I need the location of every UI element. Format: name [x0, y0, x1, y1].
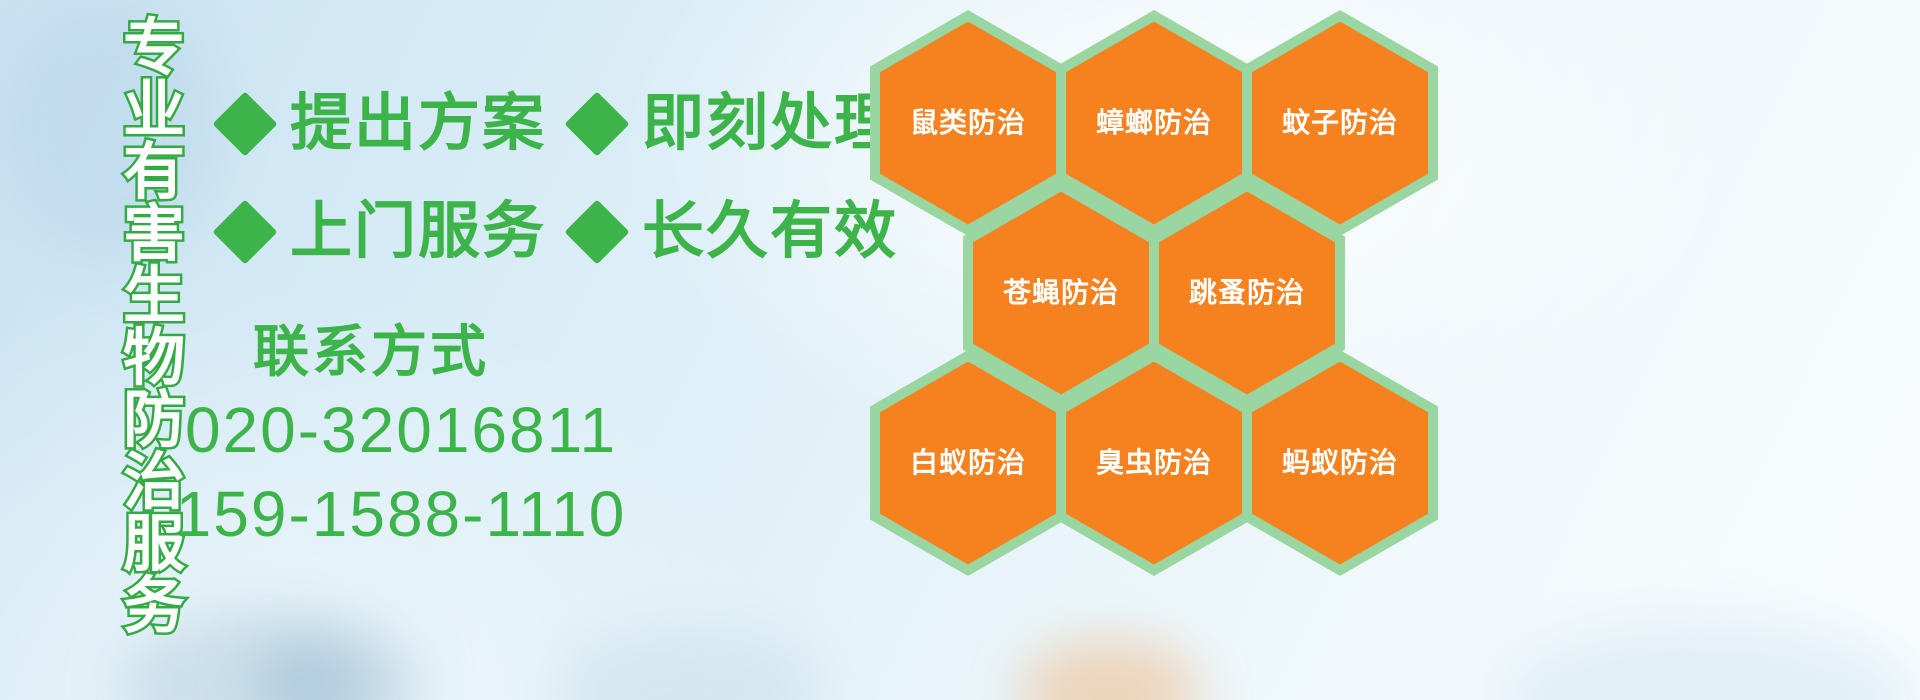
feature-label-1: 提出方案 — [290, 93, 546, 155]
feature-label-3: 上门服务 — [290, 201, 546, 263]
hex-inner: 白蚁防治 — [880, 362, 1056, 565]
hex-inner: 蟑螂防治 — [1066, 22, 1242, 225]
feature-label-4: 长久有效 — [642, 201, 898, 263]
decorative-blur-b — [250, 640, 370, 700]
service-label: 白蚁防治 — [910, 448, 1026, 478]
service-label: 臭虫防治 — [1096, 448, 1212, 478]
diamond-icon — [564, 91, 629, 156]
feature-list: 提出方案 即刻处理 上门服务 长久有效 — [222, 70, 898, 286]
service-label: 苍蝇防治 — [1003, 278, 1119, 308]
decorative-blur-c — [560, 630, 820, 700]
decorative-blur-orange — [1020, 640, 1200, 700]
pest-control-banner: 专业有害生物防治服务 提出方案 即刻处理 上门服务 长久有效 联系方式 020-… — [0, 0, 1920, 700]
hex-inner: 臭虫防治 — [1066, 362, 1242, 565]
service-hexagon-grid: 鼠类防治 蟑螂防治 蚊子防治 苍蝇防治 跳蚤防治 白蚁防治 — [862, 0, 1462, 560]
diamond-icon — [212, 91, 277, 156]
hex-inner: 鼠类防治 — [880, 22, 1056, 225]
service-label: 蟑螂防治 — [1096, 108, 1212, 138]
diamond-icon — [212, 199, 277, 264]
hex-inner: 蚂蚁防治 — [1252, 362, 1428, 565]
hex-inner: 苍蝇防治 — [973, 192, 1149, 395]
hex-inner: 跳蚤防治 — [1159, 192, 1335, 395]
service-label: 鼠类防治 — [910, 108, 1026, 138]
feature-label-2: 即刻处理 — [642, 93, 898, 155]
feature-row-1: 提出方案 即刻处理 — [222, 70, 898, 178]
service-label: 跳蚤防治 — [1189, 278, 1305, 308]
service-label: 蚂蚁防治 — [1282, 448, 1398, 478]
feature-row-2: 上门服务 长久有效 — [222, 178, 898, 286]
hex-inner: 蚊子防治 — [1252, 22, 1428, 225]
diamond-icon — [564, 199, 629, 264]
phone-mobile[interactable]: 159-1588-1110 — [0, 472, 860, 556]
service-label: 蚊子防治 — [1282, 108, 1398, 138]
contact-title: 联系方式 — [0, 316, 860, 388]
contact-block: 联系方式 020-32016811 159-1588-1110 — [0, 316, 860, 556]
phone-landline[interactable]: 020-32016811 — [0, 388, 860, 472]
decorative-blur-e — [1500, 620, 1920, 700]
